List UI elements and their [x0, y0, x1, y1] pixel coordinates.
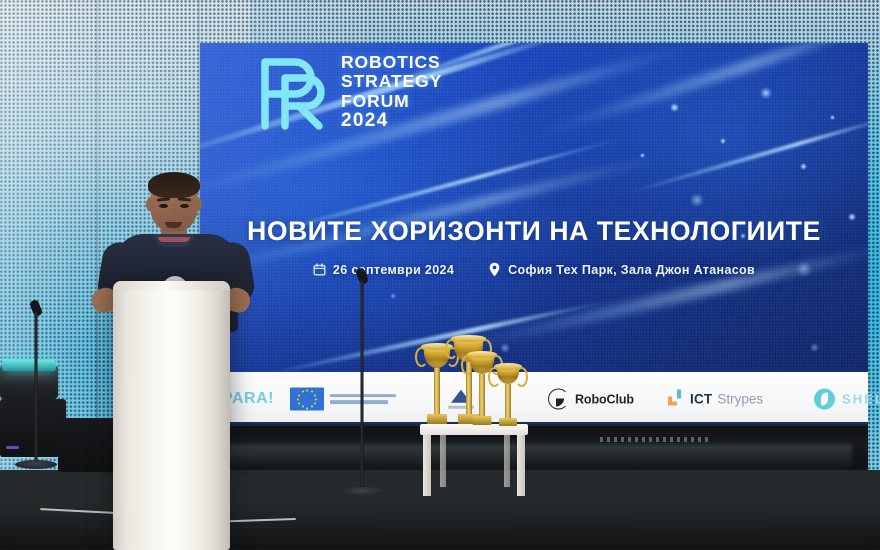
table-leg [440, 435, 446, 487]
event-location-text: София Тех Парк, Зала Джон Атанасов [508, 263, 755, 277]
presenter-eye [159, 204, 168, 208]
shelly-mark-icon [814, 389, 835, 410]
sponsor-shelly-logo: SHELLY [814, 389, 880, 410]
trophy [470, 354, 494, 426]
trophy [497, 366, 519, 426]
event-location-item: София Тех Парк, Зала Джон Атанасов [488, 262, 755, 277]
microphone-stand [338, 268, 386, 500]
european-union-flag-icon [290, 388, 324, 411]
presenter-ear [194, 198, 202, 211]
presenter-hair [148, 172, 200, 198]
table-leg [504, 435, 510, 487]
logo-line-1: ROBOTICS [341, 53, 442, 71]
logo-line-2: STRATEGY [341, 72, 442, 90]
table-leg [517, 435, 525, 496]
table-leg [423, 435, 431, 496]
presenter-ear [146, 198, 154, 211]
strypes-label: Strypes [717, 392, 763, 407]
floor-reflection [212, 444, 852, 470]
sponsor-roboclub-logo: RoboClub [548, 389, 634, 410]
microphone-stand [14, 300, 58, 470]
roboclub-mark-icon [548, 389, 569, 410]
presenter-nose [170, 209, 177, 219]
sponsor-ict-strypes-logo: ICT Strypes [668, 390, 763, 409]
roboclub-label: RoboClub [575, 392, 634, 406]
rsf-r-monogram-icon [255, 52, 327, 132]
presenter-eye [180, 204, 189, 208]
calendar-icon [313, 263, 326, 276]
map-pin-icon [488, 262, 501, 277]
ict-label: ICT [690, 392, 712, 407]
sponsor-logo-band: PARA! RoboClub ICT Strypes SHEL [200, 372, 868, 426]
podium-top-surface [113, 281, 230, 290]
shelly-label: SHELLY [842, 392, 880, 407]
base-detail-strip [600, 437, 710, 442]
podium [113, 281, 230, 550]
logo-year: 2024 [341, 111, 442, 131]
event-logo-lockup: ROBOTICS STRATEGY FORUM 2024 [255, 52, 442, 132]
ict-strypes-mark-icon [668, 390, 685, 409]
logo-line-3: FORUM [341, 92, 442, 110]
conference-stage-photo: ROBOTICS STRATEGY FORUM 2024 НОВИТЕ ХОРИ… [0, 0, 880, 550]
trophy-table [420, 424, 528, 496]
trophy [424, 346, 450, 426]
